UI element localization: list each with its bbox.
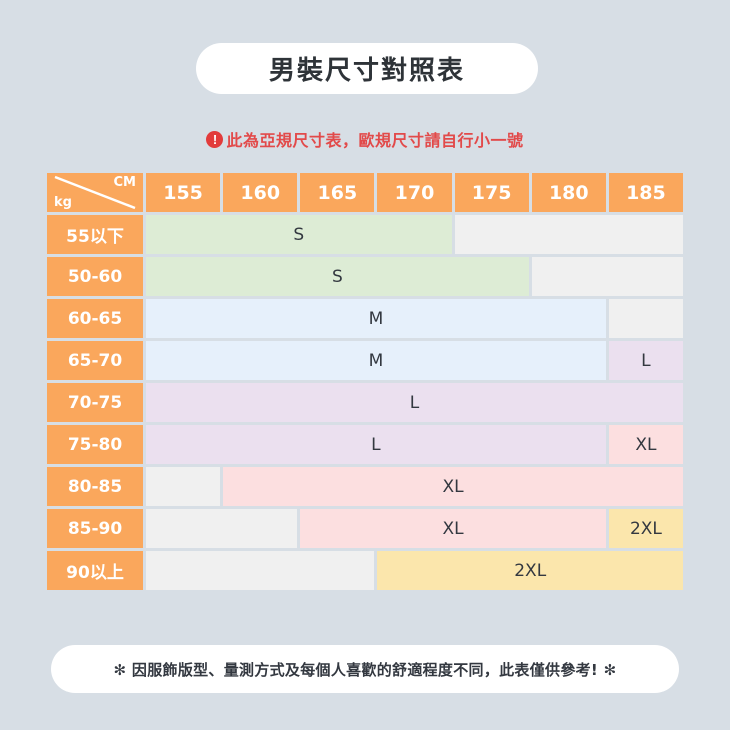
size-cell-S: S: [146, 257, 529, 296]
row-cells: M: [146, 299, 683, 338]
table-row: 85-90XL2XL: [47, 509, 683, 548]
size-cell-M: M: [146, 299, 606, 338]
size-chart-page: 男裝尺寸對照表 ! 此為亞規尺寸表，歐規尺寸請自行小一號 CM kg 15516…: [0, 0, 730, 730]
row-label-80-85: 80-85: [47, 467, 143, 506]
table-row: 60-65M: [47, 299, 683, 338]
column-header-170: 170: [377, 173, 451, 212]
table-header-row: CM kg 155160165170175180185: [47, 173, 683, 212]
row-label-60-65: 60-65: [47, 299, 143, 338]
column-header-185: 185: [609, 173, 683, 212]
table-row: 70-75L: [47, 383, 683, 422]
warning-banner: ! 此為亞規尺寸表，歐規尺寸請自行小一號: [0, 126, 730, 152]
row-cells: XL2XL: [146, 509, 683, 548]
size-cell-M: M: [146, 341, 606, 380]
column-header-175: 175: [455, 173, 529, 212]
row-label-75-80: 75-80: [47, 425, 143, 464]
row-label-55以下: 55以下: [47, 215, 143, 254]
row-cells: 2XL: [146, 551, 683, 590]
row-label-50-60: 50-60: [47, 257, 143, 296]
warning-text: 此為亞規尺寸表，歐規尺寸請自行小一號: [226, 127, 523, 151]
size-cell-2XL: 2XL: [609, 509, 683, 548]
size-cell-empty: [146, 509, 297, 548]
footer-note-pill: ✻ 因服飾版型、量測方式及每個人喜歡的舒適程度不同，此表僅供參考! ✻: [51, 645, 679, 693]
row-label-70-75: 70-75: [47, 383, 143, 422]
size-cell-L: L: [609, 341, 683, 380]
corner-cm-label: CM: [114, 175, 136, 190]
size-cell-L: L: [146, 425, 606, 464]
row-cells: LXL: [146, 425, 683, 464]
row-cells: S: [146, 257, 683, 296]
table-row: 90以上2XL: [47, 551, 683, 590]
size-cell-XL: XL: [609, 425, 683, 464]
row-label-65-70: 65-70: [47, 341, 143, 380]
page-title-pill: 男裝尺寸對照表: [196, 43, 538, 94]
size-cell-empty: [146, 467, 220, 506]
row-cells: XL: [146, 467, 683, 506]
exclamation-circle-icon: !: [206, 131, 223, 148]
row-label-90以上: 90以上: [47, 551, 143, 590]
size-cell-empty: [146, 551, 374, 590]
row-cells: ML: [146, 341, 683, 380]
row-label-85-90: 85-90: [47, 509, 143, 548]
size-cell-empty: [609, 299, 683, 338]
page-title: 男裝尺寸對照表: [269, 50, 465, 87]
size-table: CM kg 155160165170175180185 55以下S50-60S6…: [47, 173, 683, 590]
corner-cell-cm-kg: CM kg: [47, 173, 143, 212]
column-header-165: 165: [300, 173, 374, 212]
size-cell-empty: [455, 215, 683, 254]
table-row: 75-80LXL: [47, 425, 683, 464]
column-header-180: 180: [532, 173, 606, 212]
column-header-155: 155: [146, 173, 220, 212]
table-row: 80-85XL: [47, 467, 683, 506]
footer-note: ✻ 因服飾版型、量測方式及每個人喜歡的舒適程度不同，此表僅供參考! ✻: [114, 659, 617, 680]
column-header-160: 160: [223, 173, 297, 212]
table-row: 50-60S: [47, 257, 683, 296]
size-cell-L: L: [146, 383, 683, 422]
row-cells: S: [146, 215, 683, 254]
size-cell-2XL: 2XL: [377, 551, 683, 590]
corner-kg-label: kg: [54, 195, 72, 210]
table-row: 65-70ML: [47, 341, 683, 380]
size-cell-XL: XL: [300, 509, 606, 548]
table-body: 55以下S50-60S60-65M65-70ML70-75L75-80LXL80…: [47, 215, 683, 590]
size-cell-empty: [532, 257, 683, 296]
size-cell-XL: XL: [223, 467, 683, 506]
size-cell-S: S: [146, 215, 452, 254]
column-headers: 155160165170175180185: [146, 173, 683, 212]
row-cells: L: [146, 383, 683, 422]
table-row: 55以下S: [47, 215, 683, 254]
